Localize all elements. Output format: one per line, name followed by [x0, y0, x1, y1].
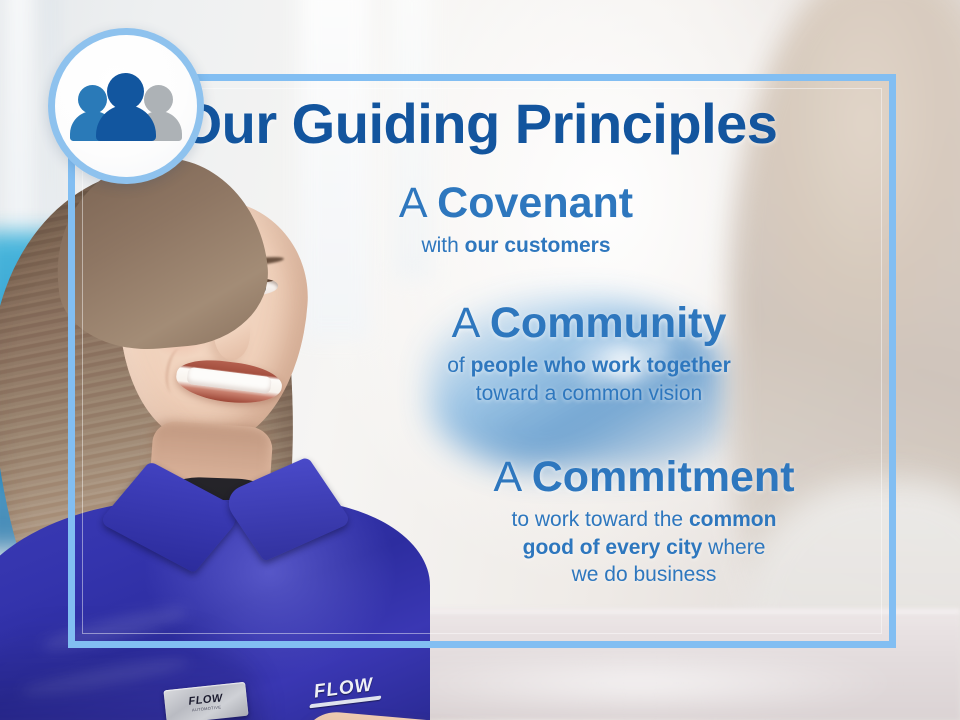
bokeh-light	[612, 352, 638, 378]
person-left-head	[78, 85, 107, 114]
desk-reflection	[380, 652, 900, 714]
foreground-person: FLOW AUTOMOTIVE FLOW	[0, 148, 430, 720]
guiding-principles-graphic: FLOW AUTOMOTIVE FLOW Our Guiding Princip…	[0, 0, 960, 720]
people-badge	[48, 28, 204, 184]
hair-crown	[48, 149, 274, 357]
teeth	[186, 367, 272, 394]
name-badge-subtitle: AUTOMOTIVE	[192, 705, 222, 712]
person-right-head	[144, 85, 173, 114]
person-center-body	[96, 105, 156, 141]
people-group-icon	[74, 71, 178, 141]
bokeh-light	[648, 338, 666, 356]
bokeh-light	[586, 372, 600, 386]
